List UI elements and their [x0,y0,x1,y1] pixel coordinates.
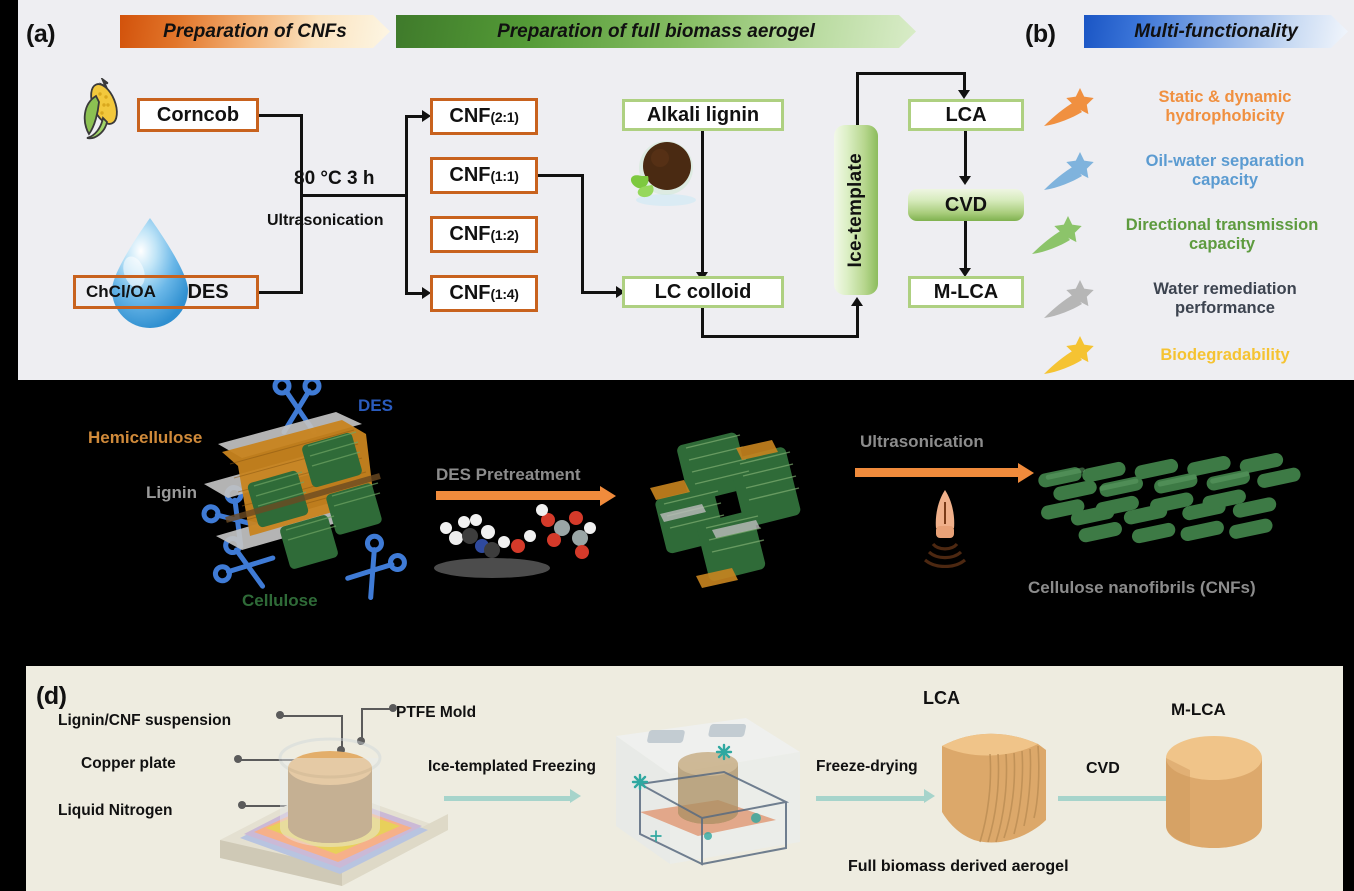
connector-ice-right [856,72,966,75]
multifunction-label-3: Water remediation performance [1096,280,1354,318]
pill-cvd: CVD [908,189,1024,221]
multifunction-item-1: Oil-water separation capacity [1040,148,1354,194]
box-cnf-1-1-sub: (1:1) [491,168,519,184]
pill-ice-template: Ice-template [834,125,878,295]
connector-to-cnf14 [405,292,423,295]
connector-ice-up [856,72,859,125]
box-cnf-1-4-label: CNF [449,282,490,305]
connector-cnf-bus [405,115,408,295]
label-step-freeze-drying: Freeze-drying [816,758,918,776]
connector-des-right [259,291,303,294]
arrow-step-2 [816,796,926,801]
connector-lc-down [701,308,704,338]
lca-aerogel-illustration [934,724,1064,854]
pill-ice-template-label: Ice-template [845,153,867,267]
banner-1-label: Preparation of CNFs [163,21,347,43]
label-lignin: Lignin [146,483,197,503]
box-cnf-2-1-sub: (2:1) [491,109,519,125]
arrow-ultrasonication [855,468,1020,477]
multifunction-label-4: Biodegradability [1096,346,1354,365]
box-cnf-1-2-label: CNF [449,223,490,246]
connector-cnf11-down [581,174,584,292]
arrow-des-pretreatment [436,491,602,500]
box-cnf-1-4: CNF(1:4) [430,275,538,312]
ultrasonic-probe-icon [915,488,975,568]
arrowhead-ice-template-in [851,297,863,306]
leader-dot-suspension-start [276,711,284,719]
connector-lc-right [701,335,859,338]
box-cnf-1-1: CNF(1:1) [430,157,538,194]
des-molecule-model [430,502,610,582]
delaminated-fibril-bundle [640,430,840,600]
connector-des-up [300,194,303,294]
label-ptfe-mold: PTFE Mold [396,704,476,722]
box-m-lca-label: M-LCA [934,281,998,304]
connector-corncob-right [259,114,303,117]
banner-multi-functionality: Multi-functionality [1084,15,1348,48]
condition-temperature: 80 °C 3 h [294,168,374,190]
shooting-star-icon [1028,212,1084,258]
corncob-icon [73,78,133,142]
box-lca-label: LCA [945,104,986,127]
water-droplet-icon [96,214,204,330]
box-alkali-lignin: Alkali lignin [622,99,784,131]
label-cnf-product: Cellulose nanofibrils (CNFs) [1028,578,1256,598]
arrowhead-step-1 [570,789,581,803]
freezing-setup-illustration [196,728,466,888]
connector-cvd-to-mlca [964,221,967,273]
label-step-ice-templated-freezing: Ice-templated Freezing [428,758,596,776]
arrowhead-cvd-in [959,176,971,185]
panel-d-letter: (d) [36,682,66,711]
banner-preparation-of-cnfs: Preparation of CNFs [120,15,390,48]
condition-process: Ultrasonication [267,212,383,230]
pill-cvd-label: CVD [945,194,987,217]
m-lca-aerogel-illustration [1154,730,1284,860]
box-des-label: DES [187,281,228,304]
panel-a-letter: (a) [26,20,55,49]
label-lca-product: LCA [923,688,960,709]
arrow-step-1 [444,796,572,801]
label-step-cvd: CVD [1086,760,1120,778]
multifunction-item-3: Water remediation performance [1040,276,1354,322]
leader-dot-ptfe-start [389,704,397,712]
box-lc-colloid-label: LC colloid [655,281,752,304]
label-cellulose: Cellulose [242,591,318,611]
box-corncob: Corncob [137,98,259,132]
label-des: DES [358,396,393,416]
label-m-lca-product: M-LCA [1171,700,1226,720]
box-cnf-1-1-label: CNF [449,164,490,187]
label-hemicellulose: Hemicellulose [88,428,202,448]
freezing-chamber-illustration [596,708,816,878]
box-des: DES [73,275,259,309]
box-alkali-lignin-label: Alkali lignin [647,104,759,127]
banner-3-label: Multi-functionality [1134,21,1298,43]
arrowhead-lca-in [958,90,970,99]
connector-cnf11-right [538,174,584,177]
box-cnf-1-4-sub: (1:4) [491,286,519,302]
box-m-lca: M-LCA [908,276,1024,308]
label-copper-plate: Copper plate [81,755,176,773]
connector-trunk [300,194,408,197]
box-lca: LCA [908,99,1024,131]
multifunction-label-2: Directional transmission capacity [1084,216,1354,254]
caption-full-biomass-aerogel: Full biomass derived aerogel [848,858,1069,876]
panel-d-container: (d) Lignin/CNF suspension Copper plate L… [26,666,1343,891]
shooting-star-icon [1040,148,1096,194]
shooting-star-icon [1040,84,1096,130]
panel-a-b-container: (a) Preparation of CNFs Preparation of f… [18,0,1354,380]
label-des-pretreatment: DES Pretreatment [436,465,581,485]
box-corncob-label: Corncob [157,104,239,127]
panel-b-letter: (b) [1025,20,1055,49]
box-cnf-1-2-sub: (1:2) [491,227,519,243]
shooting-star-icon [1040,332,1096,378]
banner-2-label: Preparation of full biomass aerogel [497,21,815,43]
multifunction-label-0: Static & dynamic hydrophobicity [1096,88,1354,126]
label-ultrasonication: Ultrasonication [860,432,984,452]
label-liquid-nitrogen: Liquid Nitrogen [58,802,173,820]
lignin-powder-icon [622,136,706,208]
box-cnf-2-1: CNF(2:1) [430,98,538,135]
shooting-star-icon [1040,276,1096,322]
connector-cnf11-to-lc [581,291,619,294]
multifunction-item-0: Static & dynamic hydrophobicity [1040,84,1354,130]
connector-lc-up-to-ice [856,306,859,336]
multifunction-item-4: Biodegradability [1040,332,1354,378]
panel-c-container: DES Hemicellulose Lignin Cellulose DES P… [0,380,1354,660]
box-lc-colloid: LC colloid [622,276,784,308]
arrowhead-ultrasonication [1018,463,1034,483]
box-cnf-2-1-label: CNF [449,105,490,128]
box-cnf-1-2: CNF(1:2) [430,216,538,253]
connector-lignin-down [701,131,704,276]
cnf-dispersion-illustration [1035,428,1325,588]
banner-preparation-of-aerogel: Preparation of full biomass aerogel [396,15,916,48]
connector-lca-to-cvd [964,131,967,181]
multifunction-item-2: Directional transmission capacity [1028,212,1354,258]
leader-suspension [280,715,342,717]
multifunction-label-1: Oil-water separation capacity [1096,152,1354,190]
connector-to-cnf21 [405,115,423,118]
